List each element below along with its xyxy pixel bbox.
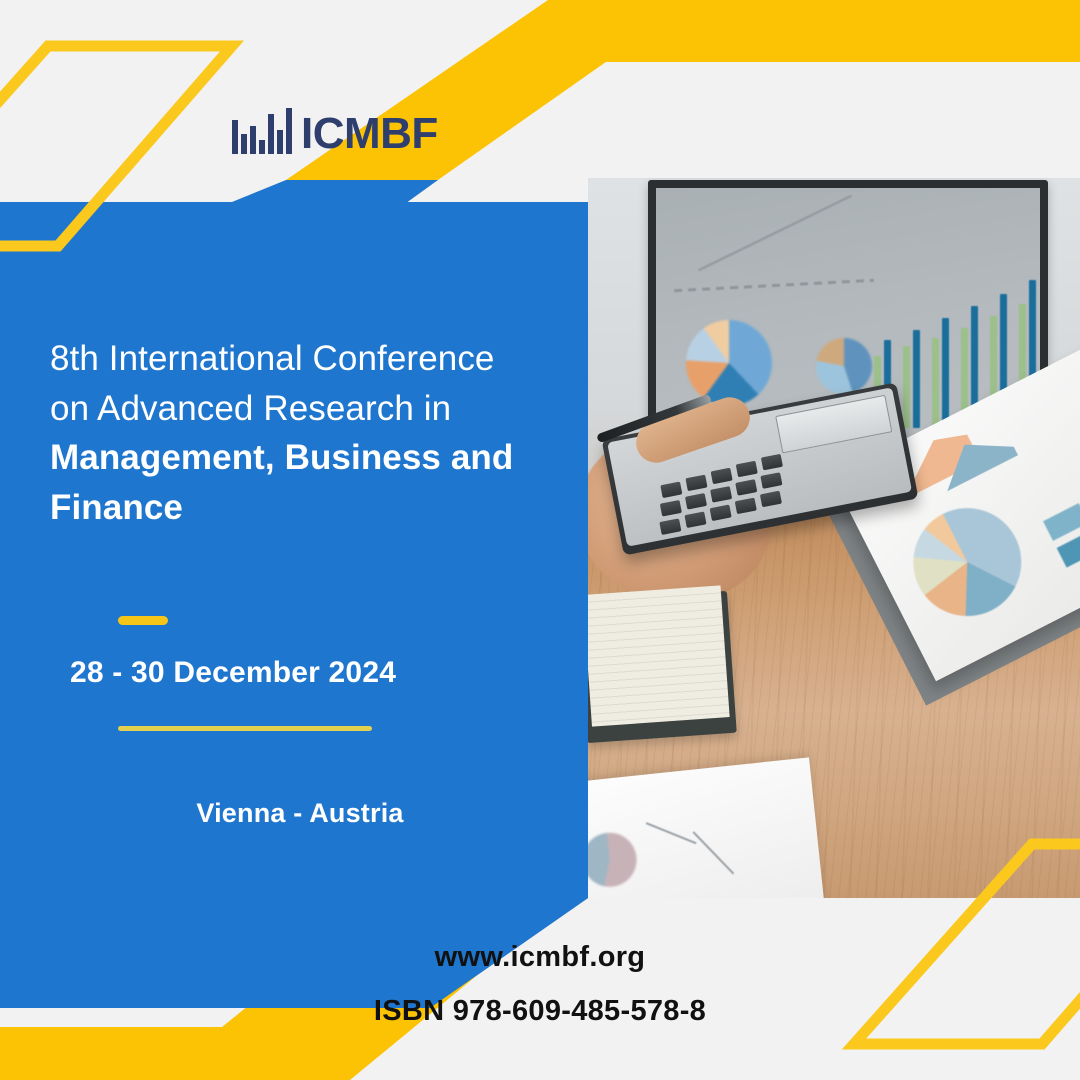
title-line-1: 8th International Conference xyxy=(50,339,495,378)
report-legend-swatch-1 xyxy=(1043,503,1080,541)
screen-bar-blue-3 xyxy=(942,318,949,428)
calculator-key xyxy=(659,518,681,535)
calculator-key xyxy=(660,482,682,499)
logo-wordmark: ICMBF xyxy=(301,113,438,154)
calculator-key xyxy=(685,475,707,492)
bar-chart-icon xyxy=(232,108,292,154)
calculator-key xyxy=(710,505,732,522)
calculator-key xyxy=(760,491,782,508)
isbn-number: ISBN 978-609-485-578-8 xyxy=(0,995,1080,1028)
accent-bar xyxy=(118,616,168,625)
calculator-key xyxy=(736,461,758,478)
paper-trend-line-1 xyxy=(646,822,697,844)
calculator-key xyxy=(760,472,782,489)
bottom-paper xyxy=(588,757,826,898)
screen-trend-line xyxy=(698,195,852,271)
calculator-key xyxy=(660,500,682,517)
conference-photo xyxy=(588,178,1080,898)
title-bold-line-1: Management, Business and xyxy=(50,438,513,477)
page-title: 8th International Conference on Advanced… xyxy=(50,334,570,533)
notebook xyxy=(588,591,737,743)
paper-pie-chart-1 xyxy=(588,830,639,889)
calculator-key xyxy=(735,498,757,515)
screen-pie-chart-left xyxy=(686,320,772,406)
screen-bar-green-2 xyxy=(903,346,910,428)
screen-dashed-line xyxy=(674,279,874,292)
conference-poster: ICMBF 8th International Conference on Ad… xyxy=(0,0,1080,1080)
calculator-key xyxy=(711,468,733,485)
website-url[interactable]: www.icmbf.org xyxy=(0,941,1080,974)
report-pie-chart xyxy=(895,489,1040,634)
calculator-key xyxy=(685,493,707,510)
title-line-2: on Advanced Research in xyxy=(50,389,451,428)
conference-date: 28 - 30 December 2024 xyxy=(70,656,530,690)
calculator-display xyxy=(775,395,892,454)
screen-pie-chart-right xyxy=(816,338,872,394)
paper-trend-line-2 xyxy=(693,831,735,874)
accent-divider-line xyxy=(118,726,372,731)
screen-bar-green-3 xyxy=(932,338,939,428)
calculator-key xyxy=(735,479,757,496)
content-panel xyxy=(0,202,588,898)
calculator-key xyxy=(710,486,732,503)
conference-location: Vienna - Austria xyxy=(70,798,530,829)
icmbf-logo[interactable]: ICMBF xyxy=(232,96,438,154)
calculator-key xyxy=(684,511,706,528)
title-bold-line-2: Finance xyxy=(50,488,183,527)
screen-bar-blue-2 xyxy=(913,330,920,428)
calculator-key xyxy=(761,454,783,471)
notebook-page xyxy=(588,585,730,726)
